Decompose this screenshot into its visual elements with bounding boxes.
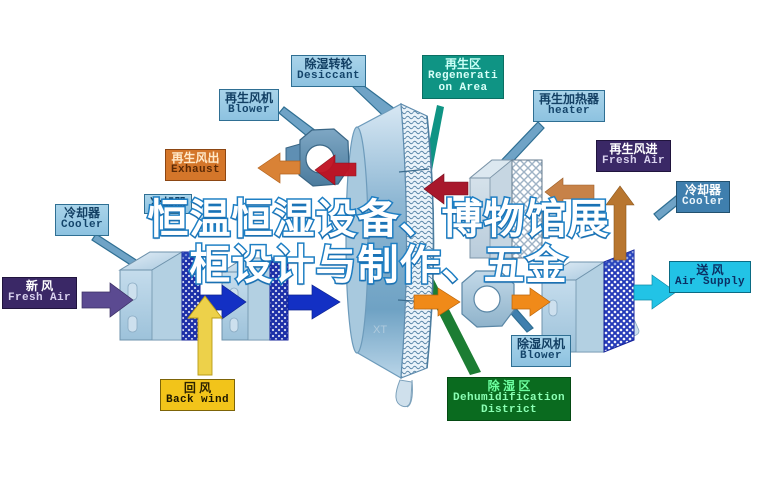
diagram-canvas: XT [0,0,757,488]
label-regeneration-exhaust-cn: 再生风出 [171,152,220,165]
label-back-wind[interactable]: 回 风 Back wind [160,379,235,411]
label-regeneration-heater-cn: 再生加热器 [539,93,599,106]
label-fresh-air-in[interactable]: 新 风 Fresh Air [2,277,77,309]
label-fresh-air-in-en: Fresh Air [8,293,71,305]
label-fresh-air-in-cn: 新 风 [8,280,71,293]
component-desiccant-rotor: XT [346,104,434,407]
label-regeneration-exhaust-en: Exhaust [171,165,220,177]
label-regeneration-heater-en: heater [539,106,599,118]
component-ahu-left [120,252,200,340]
arrow-regen-intake [545,178,594,206]
component-dehumidify-blower [462,271,514,327]
component-regen-blower [286,129,349,186]
label-regeneration-area-cn: 再生区 [428,58,498,71]
label-regeneration-blower-cn: 再生风机 [225,92,273,105]
label-cooler-mid[interactable]: 冷却器 [144,194,192,214]
label-regeneration-blower-en: Blower [225,105,273,117]
label-back-wind-en: Back wind [166,395,229,407]
label-dehumidify-blower-en: Blower [517,351,565,363]
label-cooler-right[interactable]: 冷却器 Cooler [676,181,730,213]
label-cooler-mid-cn: 冷却器 [150,197,186,210]
label-dehumidification-district-en-2: District [453,405,565,417]
label-cooler-left-en: Cooler [61,220,103,232]
label-regeneration-fresh-air[interactable]: 再生风进 Fresh Air [596,140,671,172]
label-air-supply-cn: 送 风 [675,264,745,277]
label-desiccant-wheel-cn: 除湿转轮 [297,58,360,71]
label-back-wind-cn: 回 风 [166,382,229,395]
label-regeneration-fresh-air-en: Fresh Air [602,156,665,168]
label-regeneration-heater[interactable]: 再生加热器 heater [533,90,605,122]
component-regen-heater [470,160,542,258]
label-air-supply-en: Air Supply [675,277,745,289]
label-cooler-left[interactable]: 冷却器 Cooler [55,204,109,236]
label-dehumidification-district[interactable]: 除 湿 区 Dehumidification District [447,377,571,421]
label-regeneration-area-en-2: on Area [428,83,498,95]
diagram-graphics: XT [0,0,757,488]
label-dehumidification-district-cn: 除 湿 区 [453,380,565,393]
label-dehumidify-blower-cn: 除湿风机 [517,338,565,351]
label-cooler-right-en: Cooler [682,197,724,209]
label-desiccant-wheel[interactable]: 除湿转轮 Desiccant [291,55,366,87]
label-regeneration-exhaust[interactable]: 再生风出 Exhaust [165,149,226,181]
label-cooler-left-cn: 冷却器 [61,207,103,220]
label-dehumidify-blower[interactable]: 除湿风机 Blower [511,335,571,367]
label-regeneration-blower[interactable]: 再生风机 Blower [219,89,279,121]
arrow-process-2 [288,285,340,319]
arrow-regen-riser [606,186,634,260]
label-regeneration-area[interactable]: 再生区 Regenerati on Area [422,55,504,99]
label-desiccant-wheel-en: Desiccant [297,71,360,83]
label-cooler-right-cn: 冷却器 [682,184,724,197]
label-regeneration-fresh-air-cn: 再生风进 [602,143,665,156]
label-air-supply[interactable]: 送 风 Air Supply [669,261,751,293]
svg-text:XT: XT [373,324,387,336]
